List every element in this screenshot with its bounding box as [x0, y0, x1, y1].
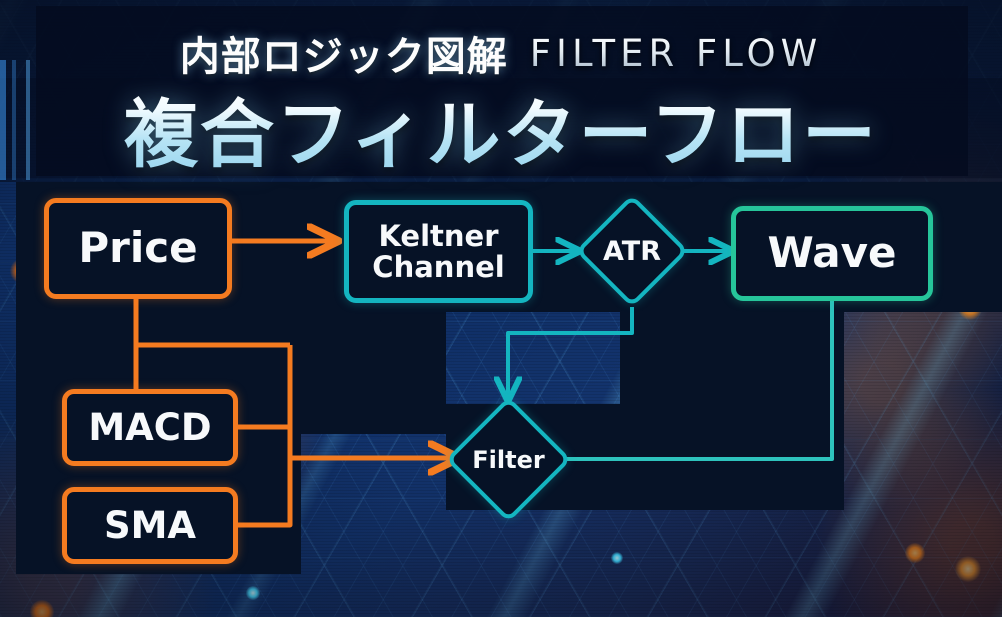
node-wave-label: Wave: [767, 231, 896, 276]
node-atr-label: ATR: [592, 211, 672, 291]
node-sma[interactable]: SMA: [62, 487, 238, 564]
edge-atr-filter: [508, 307, 632, 398]
node-price[interactable]: Price: [44, 198, 232, 299]
node-filter[interactable]: Filter: [464, 415, 553, 504]
node-keltner-label-line1: Keltner: [378, 221, 498, 252]
node-macd-label: MACD: [88, 408, 211, 447]
node-atr[interactable]: ATR: [592, 211, 672, 291]
node-keltner-channel[interactable]: Keltner Channel: [344, 200, 533, 303]
edge-wave-filter: [560, 301, 832, 459]
node-price-label: Price: [78, 226, 197, 271]
node-keltner-label-line2: Channel: [372, 252, 504, 283]
node-filter-label: Filter: [464, 415, 553, 504]
infographic-canvas: 内部ロジック図解 FILTER FLOW 複合フィルターフロー: [0, 0, 1002, 617]
edge-sma-bus: [238, 458, 290, 525]
node-wave[interactable]: Wave: [731, 206, 933, 301]
node-sma-label: SMA: [104, 506, 196, 545]
node-macd[interactable]: MACD: [62, 389, 238, 466]
